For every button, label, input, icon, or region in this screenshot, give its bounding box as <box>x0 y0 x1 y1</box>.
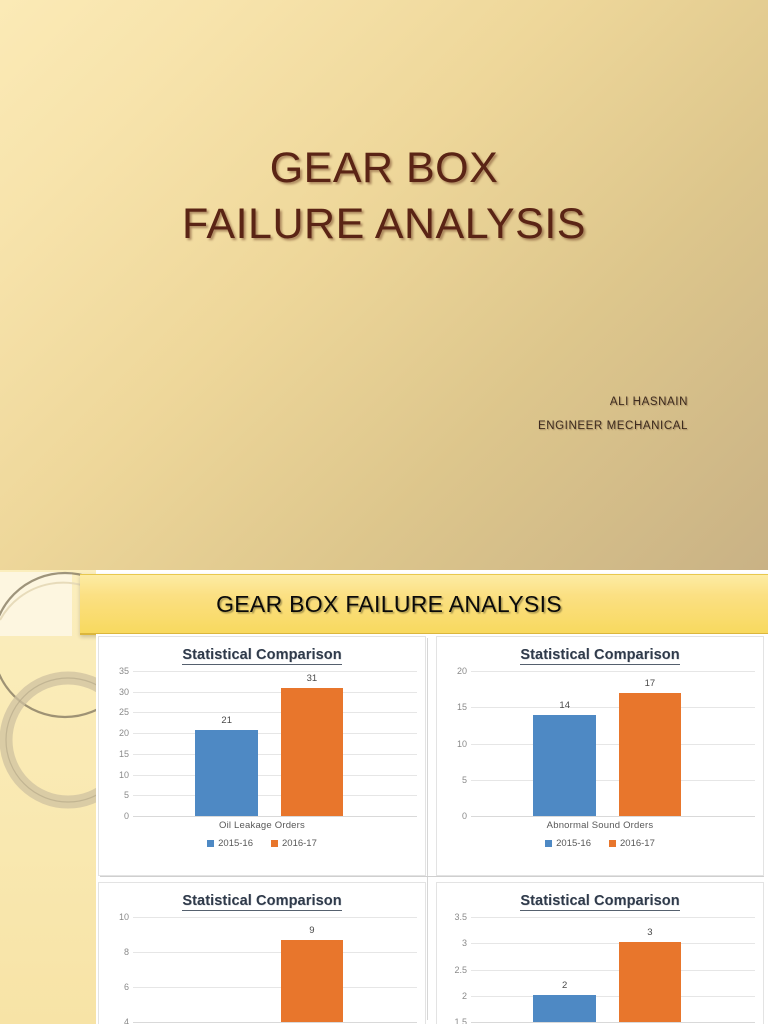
legend-label: 2015-16 <box>218 838 253 849</box>
legend-swatch-blue <box>545 840 552 847</box>
y-axis: 3.532.521.5 <box>437 917 471 1022</box>
y-axis-tick-label: 30 <box>119 687 129 697</box>
gridline <box>471 816 755 817</box>
slide-decoration-sidebar <box>0 570 96 1024</box>
y-axis-tick-label: 15 <box>119 749 129 759</box>
title-line-2: FAILURE ANALYSIS <box>0 196 768 252</box>
grid-area: 21 31 <box>133 671 417 816</box>
vertical-divider <box>427 638 428 1020</box>
y-axis-tick-label: 10 <box>119 770 129 780</box>
bar-2016-17: 31 <box>281 688 343 816</box>
grid-area: 2 3 <box>471 917 755 1022</box>
charts-container: Statistical Comparison 35302520151050 21… <box>96 634 768 1024</box>
y-axis-tick-label: 3 <box>462 938 467 948</box>
slide-header-title: GEAR BOX FAILURE ANALYSIS <box>80 575 768 633</box>
bar-2016-17: 9 <box>281 940 343 1022</box>
bar-2015-16: 14 <box>533 715 595 817</box>
bar-value-label: 31 <box>281 673 343 684</box>
y-axis-tick-label: 20 <box>119 728 129 738</box>
y-axis-tick-label: 3.5 <box>454 912 467 922</box>
title-line-1: GEAR BOX <box>270 144 499 192</box>
chart-oil-leakage: Statistical Comparison 35302520151050 21… <box>98 636 426 876</box>
bars-group: 2 3 <box>471 917 755 1022</box>
y-axis-tick-label: 35 <box>119 666 129 676</box>
y-axis-tick-label: 5 <box>124 790 129 800</box>
chart-third-clipped: Statistical Comparison 10864 9 <box>98 882 426 1024</box>
y-axis-tick-label: 1.5 <box>454 1017 467 1024</box>
gridline <box>133 1022 417 1023</box>
bar-2016-17: 3 <box>619 942 681 1022</box>
y-axis-tick-label: 20 <box>457 666 467 676</box>
legend-item-2015-16: 2015-16 <box>545 838 591 849</box>
legend-swatch-orange <box>271 840 278 847</box>
slide-title-page: GEAR BOX FAILURE ANALYSIS ALI HASNAIN EN… <box>0 0 768 570</box>
legend-swatch-blue <box>207 840 214 847</box>
y-axis-tick-label: 4 <box>124 1017 129 1024</box>
y-axis: 35302520151050 <box>99 671 133 816</box>
chart-fourth-clipped: Statistical Comparison 3.532.521.5 2 3 <box>436 882 764 1024</box>
chart-plot-area: 35302520151050 21 31 <box>99 671 425 816</box>
grid-area: 14 17 <box>471 671 755 816</box>
chart-title: Statistical Comparison <box>437 647 763 663</box>
bar-value-label: 21 <box>195 715 257 726</box>
y-axis-tick-label: 10 <box>119 912 129 922</box>
y-axis-tick-label: 8 <box>124 947 129 957</box>
bar-2015-16: 21 <box>195 730 257 816</box>
bar-2015-16: 2 <box>533 995 595 1022</box>
legend-item-2015-16: 2015-16 <box>207 838 253 849</box>
bars-group: 14 17 <box>471 671 755 816</box>
author-block: ALI HASNAIN ENGINEER MECHANICAL <box>288 390 688 438</box>
horizontal-divider <box>100 876 764 877</box>
y-axis-tick-label: 2.5 <box>454 965 467 975</box>
bar-value-label: 3 <box>619 927 681 938</box>
chart-title: Statistical Comparison <box>99 893 425 909</box>
chart-abnormal-sound: Statistical Comparison 20151050 14 17 <box>436 636 764 876</box>
legend-item-2016-17: 2016-17 <box>271 838 317 849</box>
grid-area: 9 <box>133 917 417 1022</box>
chart-plot-area: 10864 9 <box>99 917 425 1022</box>
y-axis-tick-label: 6 <box>124 982 129 992</box>
chart-plot-area: 3.532.521.5 2 3 <box>437 917 763 1022</box>
bar-value-label: 9 <box>281 925 343 936</box>
bar-value-label: 2 <box>533 980 595 991</box>
y-axis: 20151050 <box>437 671 471 816</box>
y-axis-tick-label: 0 <box>124 811 129 821</box>
chart-grid: Statistical Comparison 35302520151050 21… <box>96 634 768 1024</box>
chart-legend: 2015-16 2016-17 <box>99 838 425 849</box>
y-axis-tick-label: 2 <box>462 991 467 1001</box>
gridline <box>133 816 417 817</box>
legend-label: 2016-17 <box>282 838 317 849</box>
slide-header-band: GEAR BOX FAILURE ANALYSIS <box>80 574 768 635</box>
chart-plot-area: 20151050 14 17 <box>437 671 763 816</box>
author-name: ALI HASNAIN <box>288 390 688 414</box>
slide-charts-page: GEAR BOX FAILURE ANALYSIS Statistical Co… <box>0 570 768 1024</box>
y-axis-tick-label: 15 <box>457 702 467 712</box>
gridline <box>471 1022 755 1023</box>
bars-group: 9 <box>133 917 417 1022</box>
legend-swatch-orange <box>609 840 616 847</box>
y-axis-tick-label: 0 <box>462 811 467 821</box>
category-label: Oil Leakage Orders <box>99 820 425 831</box>
y-axis-tick-label: 10 <box>457 739 467 749</box>
author-role: ENGINEER MECHANICAL <box>288 414 688 438</box>
chart-title: Statistical Comparison <box>437 893 763 909</box>
legend-item-2016-17: 2016-17 <box>609 838 655 849</box>
category-label: Abnormal Sound Orders <box>437 820 763 831</box>
y-axis-tick-label: 5 <box>462 775 467 785</box>
bars-group: 21 31 <box>133 671 417 816</box>
legend-label: 2016-17 <box>620 838 655 849</box>
presentation-page: GEAR BOX FAILURE ANALYSIS ALI HASNAIN EN… <box>0 0 768 1024</box>
bar-2016-17: 17 <box>619 693 681 816</box>
bar-value-label: 17 <box>619 678 681 689</box>
legend-label: 2015-16 <box>556 838 591 849</box>
bar-value-label: 14 <box>533 700 595 711</box>
page-title: GEAR BOX FAILURE ANALYSIS <box>0 140 768 252</box>
y-axis-tick-label: 25 <box>119 707 129 717</box>
chart-title: Statistical Comparison <box>99 647 425 663</box>
chart-legend: 2015-16 2016-17 <box>437 838 763 849</box>
y-axis: 10864 <box>99 917 133 1022</box>
